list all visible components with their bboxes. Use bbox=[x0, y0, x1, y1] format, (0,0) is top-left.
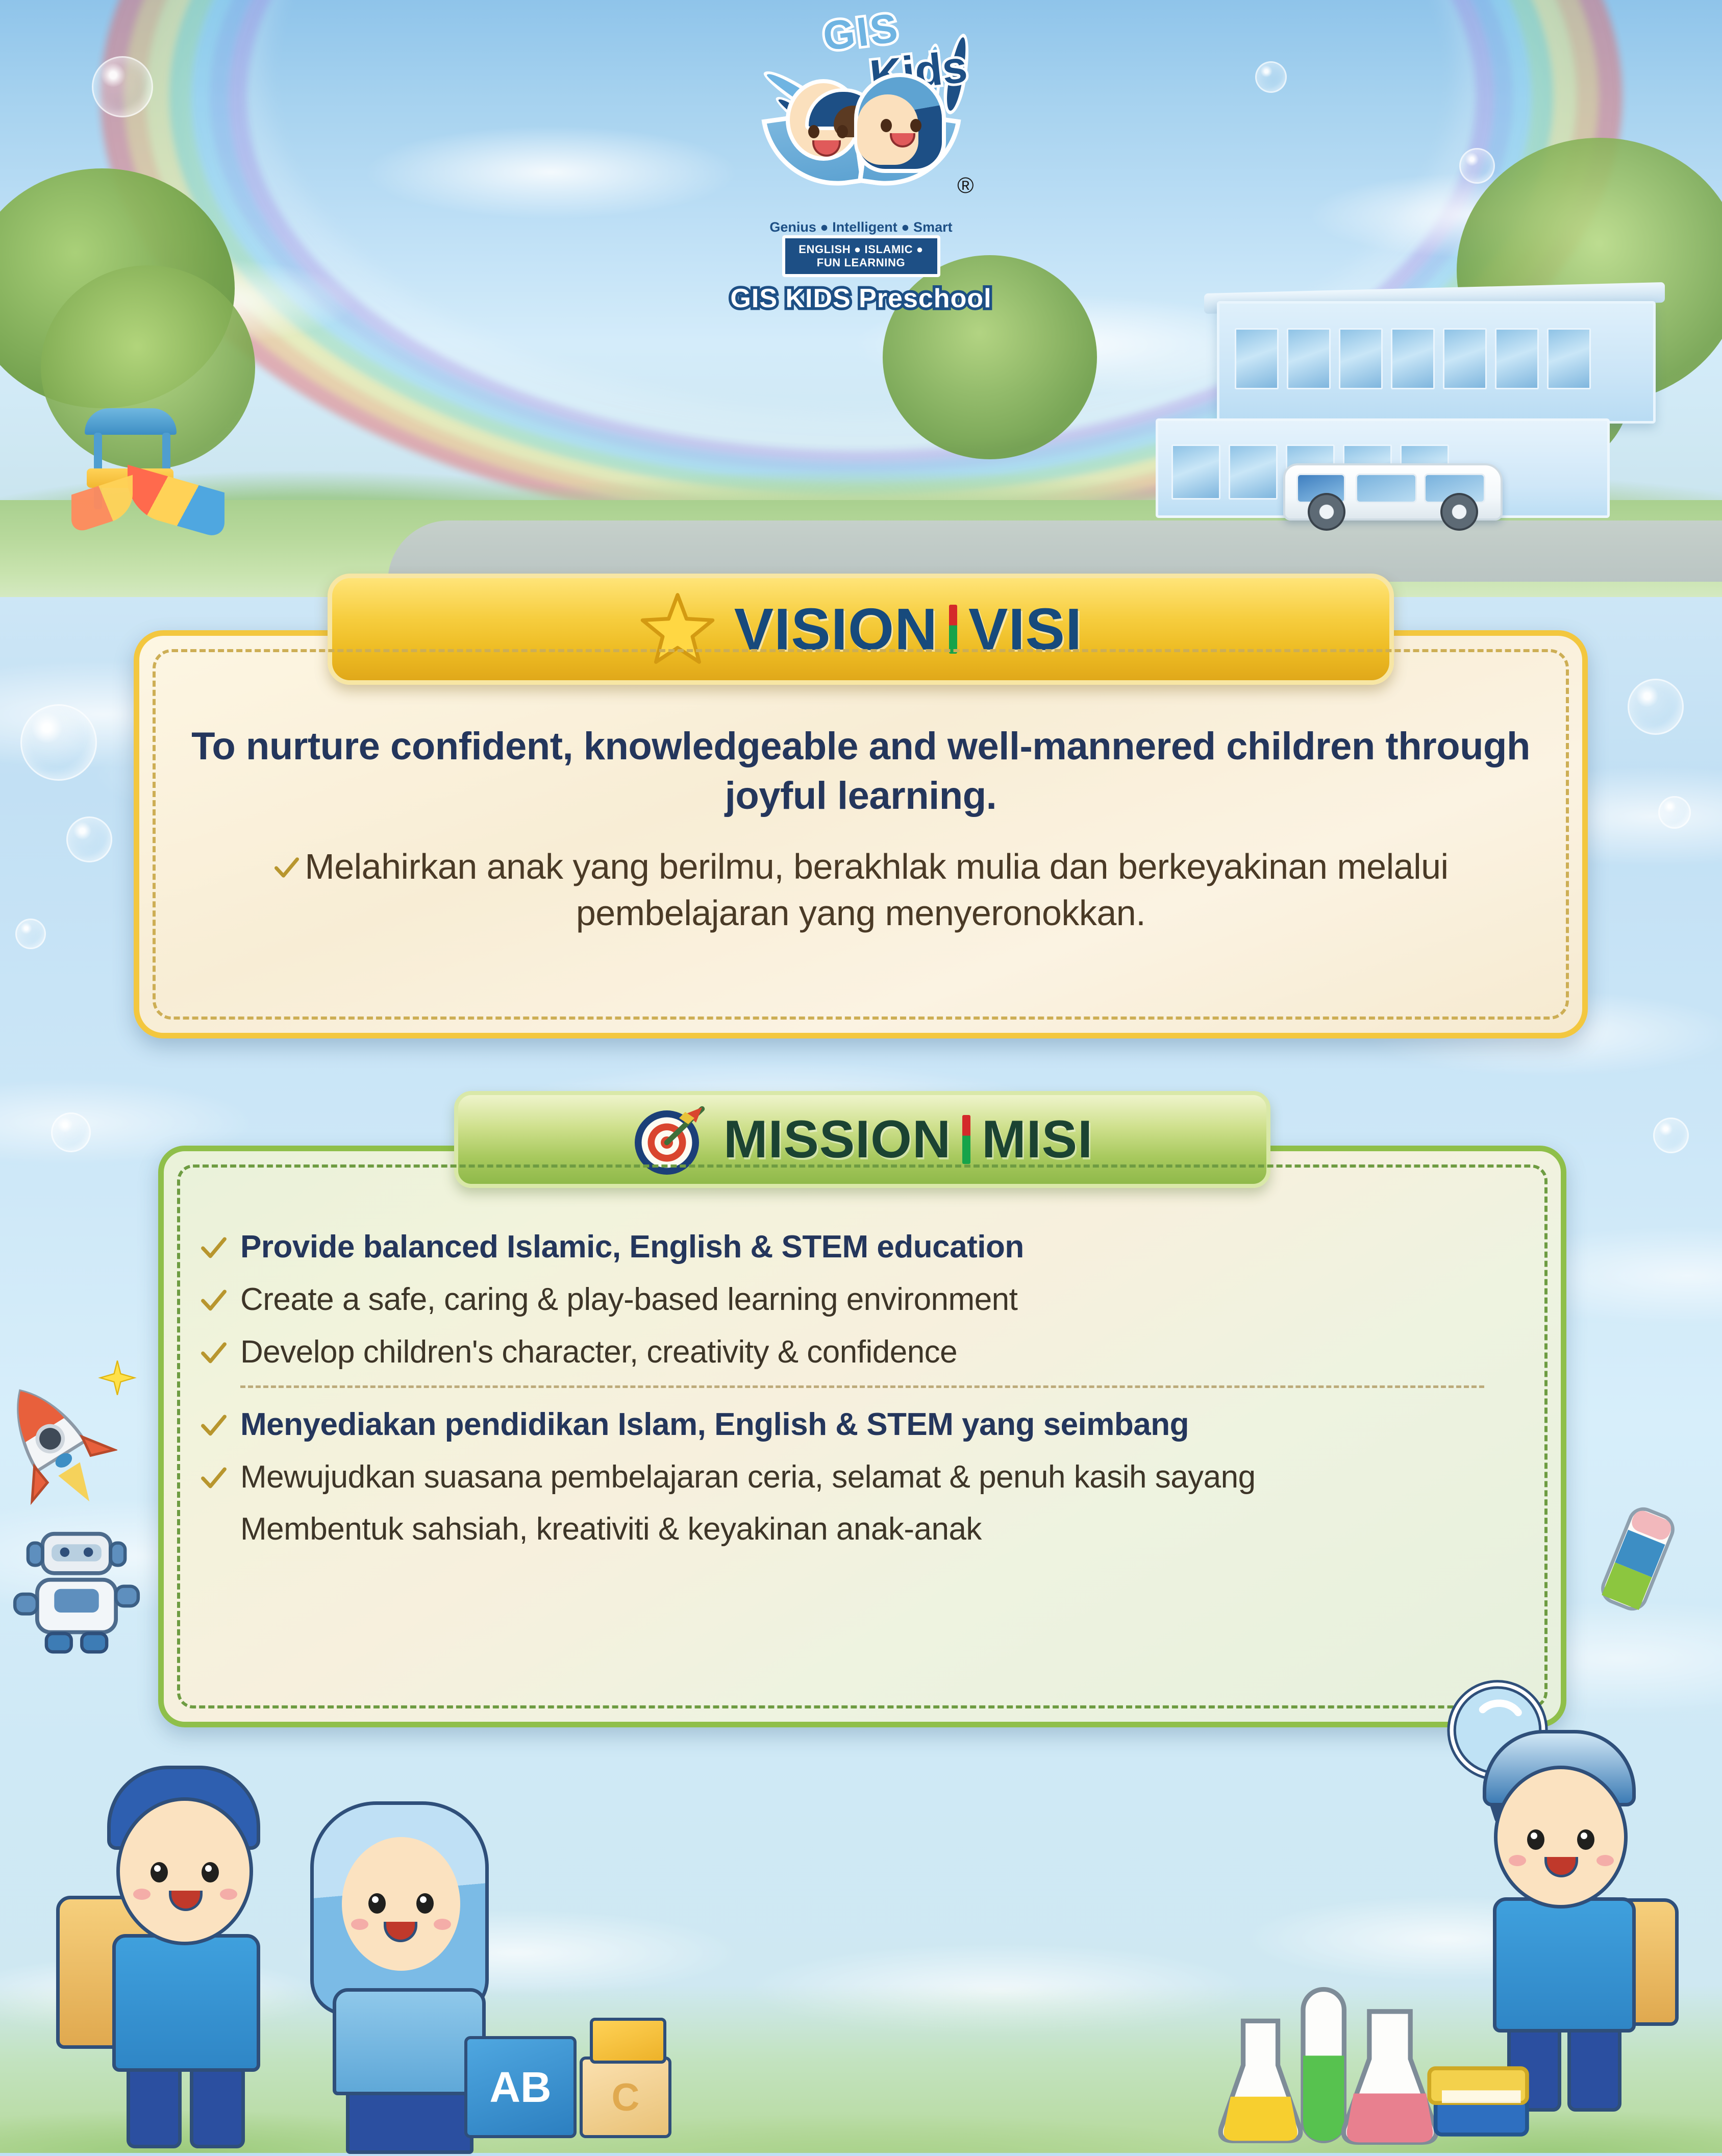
vision-text-ms: Melahirkan anak yang berilmu, berakhlak … bbox=[305, 847, 1448, 933]
bubble-icon bbox=[15, 919, 46, 949]
bubble-icon bbox=[1653, 1118, 1689, 1153]
list-item: Mewujudkan suasana pembelajaran ceria, s… bbox=[199, 1458, 1525, 1497]
registered-trademark-icon: ® bbox=[957, 173, 974, 199]
brand-logo: GIS Kids Genius ● Intelligent ● Smart ® … bbox=[718, 13, 1004, 314]
title-divider bbox=[949, 605, 957, 654]
bubble-icon bbox=[20, 704, 97, 781]
list-item: Membentuk sahsiah, kreativiti & keyakina… bbox=[199, 1510, 1525, 1549]
target-icon bbox=[632, 1101, 708, 1178]
mission-item-ms: Mewujudkan suasana pembelajaran ceria, s… bbox=[240, 1458, 1256, 1497]
alphabet-block bbox=[590, 2018, 666, 2064]
logo-boy-face bbox=[786, 79, 861, 161]
vision-title: VISION VISI bbox=[734, 595, 1082, 663]
section-divider bbox=[240, 1385, 1484, 1388]
block-letter: C bbox=[612, 2075, 640, 2120]
alphabet-block: AB bbox=[464, 2036, 577, 2138]
check-icon bbox=[199, 1286, 228, 1315]
block-letter: AB bbox=[489, 2063, 551, 2112]
mission-body: Provide balanced Islamic, English & STEM… bbox=[164, 1228, 1561, 1563]
road bbox=[388, 521, 1722, 582]
crayon-icon bbox=[1592, 1500, 1684, 1618]
bubble-icon bbox=[92, 56, 153, 117]
mission-item-en: Create a safe, caring & play-based learn… bbox=[240, 1280, 1017, 1320]
logo-tagline: Genius ● Intelligent ● Smart bbox=[769, 219, 952, 235]
mission-item-ms: Membentuk sahsiah, kreativiti & keyakina… bbox=[240, 1510, 982, 1549]
logo-girl-face bbox=[854, 73, 946, 173]
bubble-icon bbox=[1628, 679, 1684, 735]
list-item: Menyediakan pendidikan Islam, English & … bbox=[199, 1405, 1525, 1445]
alphabet-blocks-icon: AB C bbox=[459, 2000, 725, 2148]
science-flasks-icon bbox=[1214, 1980, 1531, 2153]
sparkle-icon bbox=[97, 1357, 138, 1398]
check-icon bbox=[199, 1234, 228, 1262]
list-item: Provide balanced Islamic, English & STEM… bbox=[199, 1228, 1525, 1267]
vision-header-banner: VISION VISI bbox=[328, 574, 1394, 685]
bubble-icon bbox=[66, 816, 112, 862]
title-divider bbox=[962, 1115, 970, 1164]
bubble-icon bbox=[1255, 61, 1287, 93]
logo-hands-book bbox=[769, 70, 953, 197]
school-van-icon bbox=[1283, 454, 1503, 531]
logo-badge: GIS Kids Genius ● Intelligent ● Smart ® bbox=[752, 13, 971, 232]
check-icon bbox=[199, 1339, 228, 1368]
list-item: Create a safe, caring & play-based learn… bbox=[199, 1280, 1525, 1320]
list-item: Develop children's character, creativity… bbox=[199, 1333, 1525, 1372]
robot-icon bbox=[10, 1521, 143, 1658]
boy-student-icon bbox=[51, 1766, 316, 2153]
vision-card: VISION VISI To nurture confident, knowle… bbox=[134, 630, 1588, 1038]
playground-slide-icon bbox=[66, 408, 240, 526]
alphabet-block: C bbox=[580, 2056, 671, 2138]
mission-title: MISSION MISI bbox=[723, 1109, 1093, 1170]
mission-title-en: MISSION bbox=[723, 1109, 951, 1170]
vision-body: To nurture confident, knowledgeable and … bbox=[139, 722, 1582, 936]
vision-text-en: To nurture confident, knowledgeable and … bbox=[177, 722, 1544, 821]
bubble-icon bbox=[51, 1112, 91, 1152]
school-name: GIS KIDS Preschool bbox=[718, 283, 1004, 314]
mission-item-en: Provide balanced Islamic, English & STEM… bbox=[240, 1228, 1024, 1267]
check-icon bbox=[199, 1411, 228, 1440]
mission-title-ms: MISI bbox=[982, 1109, 1093, 1170]
mission-item-ms: Menyediakan pendidikan Islam, English & … bbox=[240, 1405, 1189, 1445]
bubble-icon bbox=[1658, 796, 1691, 829]
logo-tagline-strip: ENGLISH ● ISLAMIC ● FUN LEARNING bbox=[782, 235, 940, 277]
check-icon bbox=[273, 854, 301, 882]
check-icon bbox=[199, 1464, 228, 1493]
vision-title-en: VISION bbox=[734, 595, 938, 663]
bubble-icon bbox=[1459, 148, 1495, 184]
mission-item-en: Develop children's character, creativity… bbox=[240, 1333, 957, 1372]
mission-header-banner: MISSION MISI bbox=[454, 1091, 1270, 1188]
star-icon bbox=[639, 592, 716, 666]
mission-card: MISSION MISI Provide balanced Islamic, E… bbox=[158, 1146, 1566, 1727]
vision-title-ms: VISI bbox=[968, 595, 1082, 663]
